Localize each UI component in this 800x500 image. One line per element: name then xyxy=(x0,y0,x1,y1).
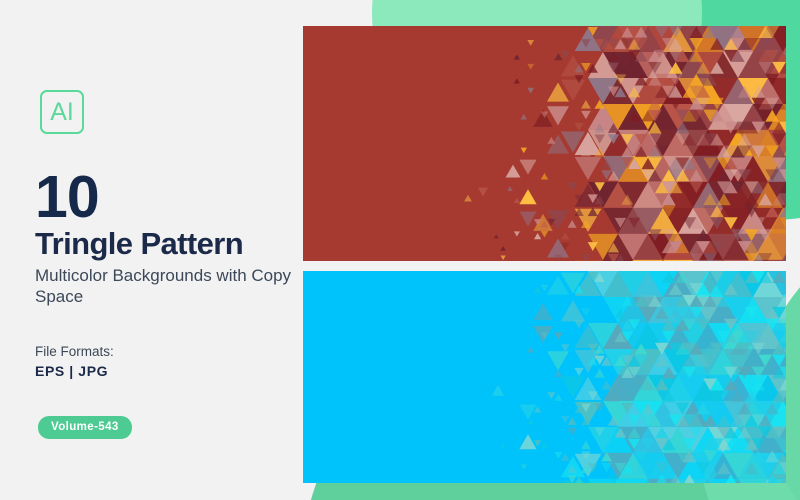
file-formats-value: EPS | JPG xyxy=(35,363,108,379)
cyan-triangle-banner xyxy=(303,271,786,483)
poster-canvas: AI 10 Tringle Pattern Multicolor Backgro… xyxy=(0,0,800,500)
cyan-triangle-pattern xyxy=(303,271,786,483)
red-triangle-pattern xyxy=(303,26,786,261)
ai-format-badge: AI xyxy=(40,90,84,134)
red-triangle-banner xyxy=(303,26,786,261)
volume-badge: Volume-543 xyxy=(38,416,132,439)
page-subtitle: Multicolor Backgrounds with Copy Space xyxy=(35,265,297,308)
ai-badge-label: AI xyxy=(50,100,74,125)
page-title: Tringle Pattern xyxy=(35,228,243,259)
pattern-count: 10 xyxy=(35,168,99,227)
file-formats-label: File Formats: xyxy=(35,344,114,359)
